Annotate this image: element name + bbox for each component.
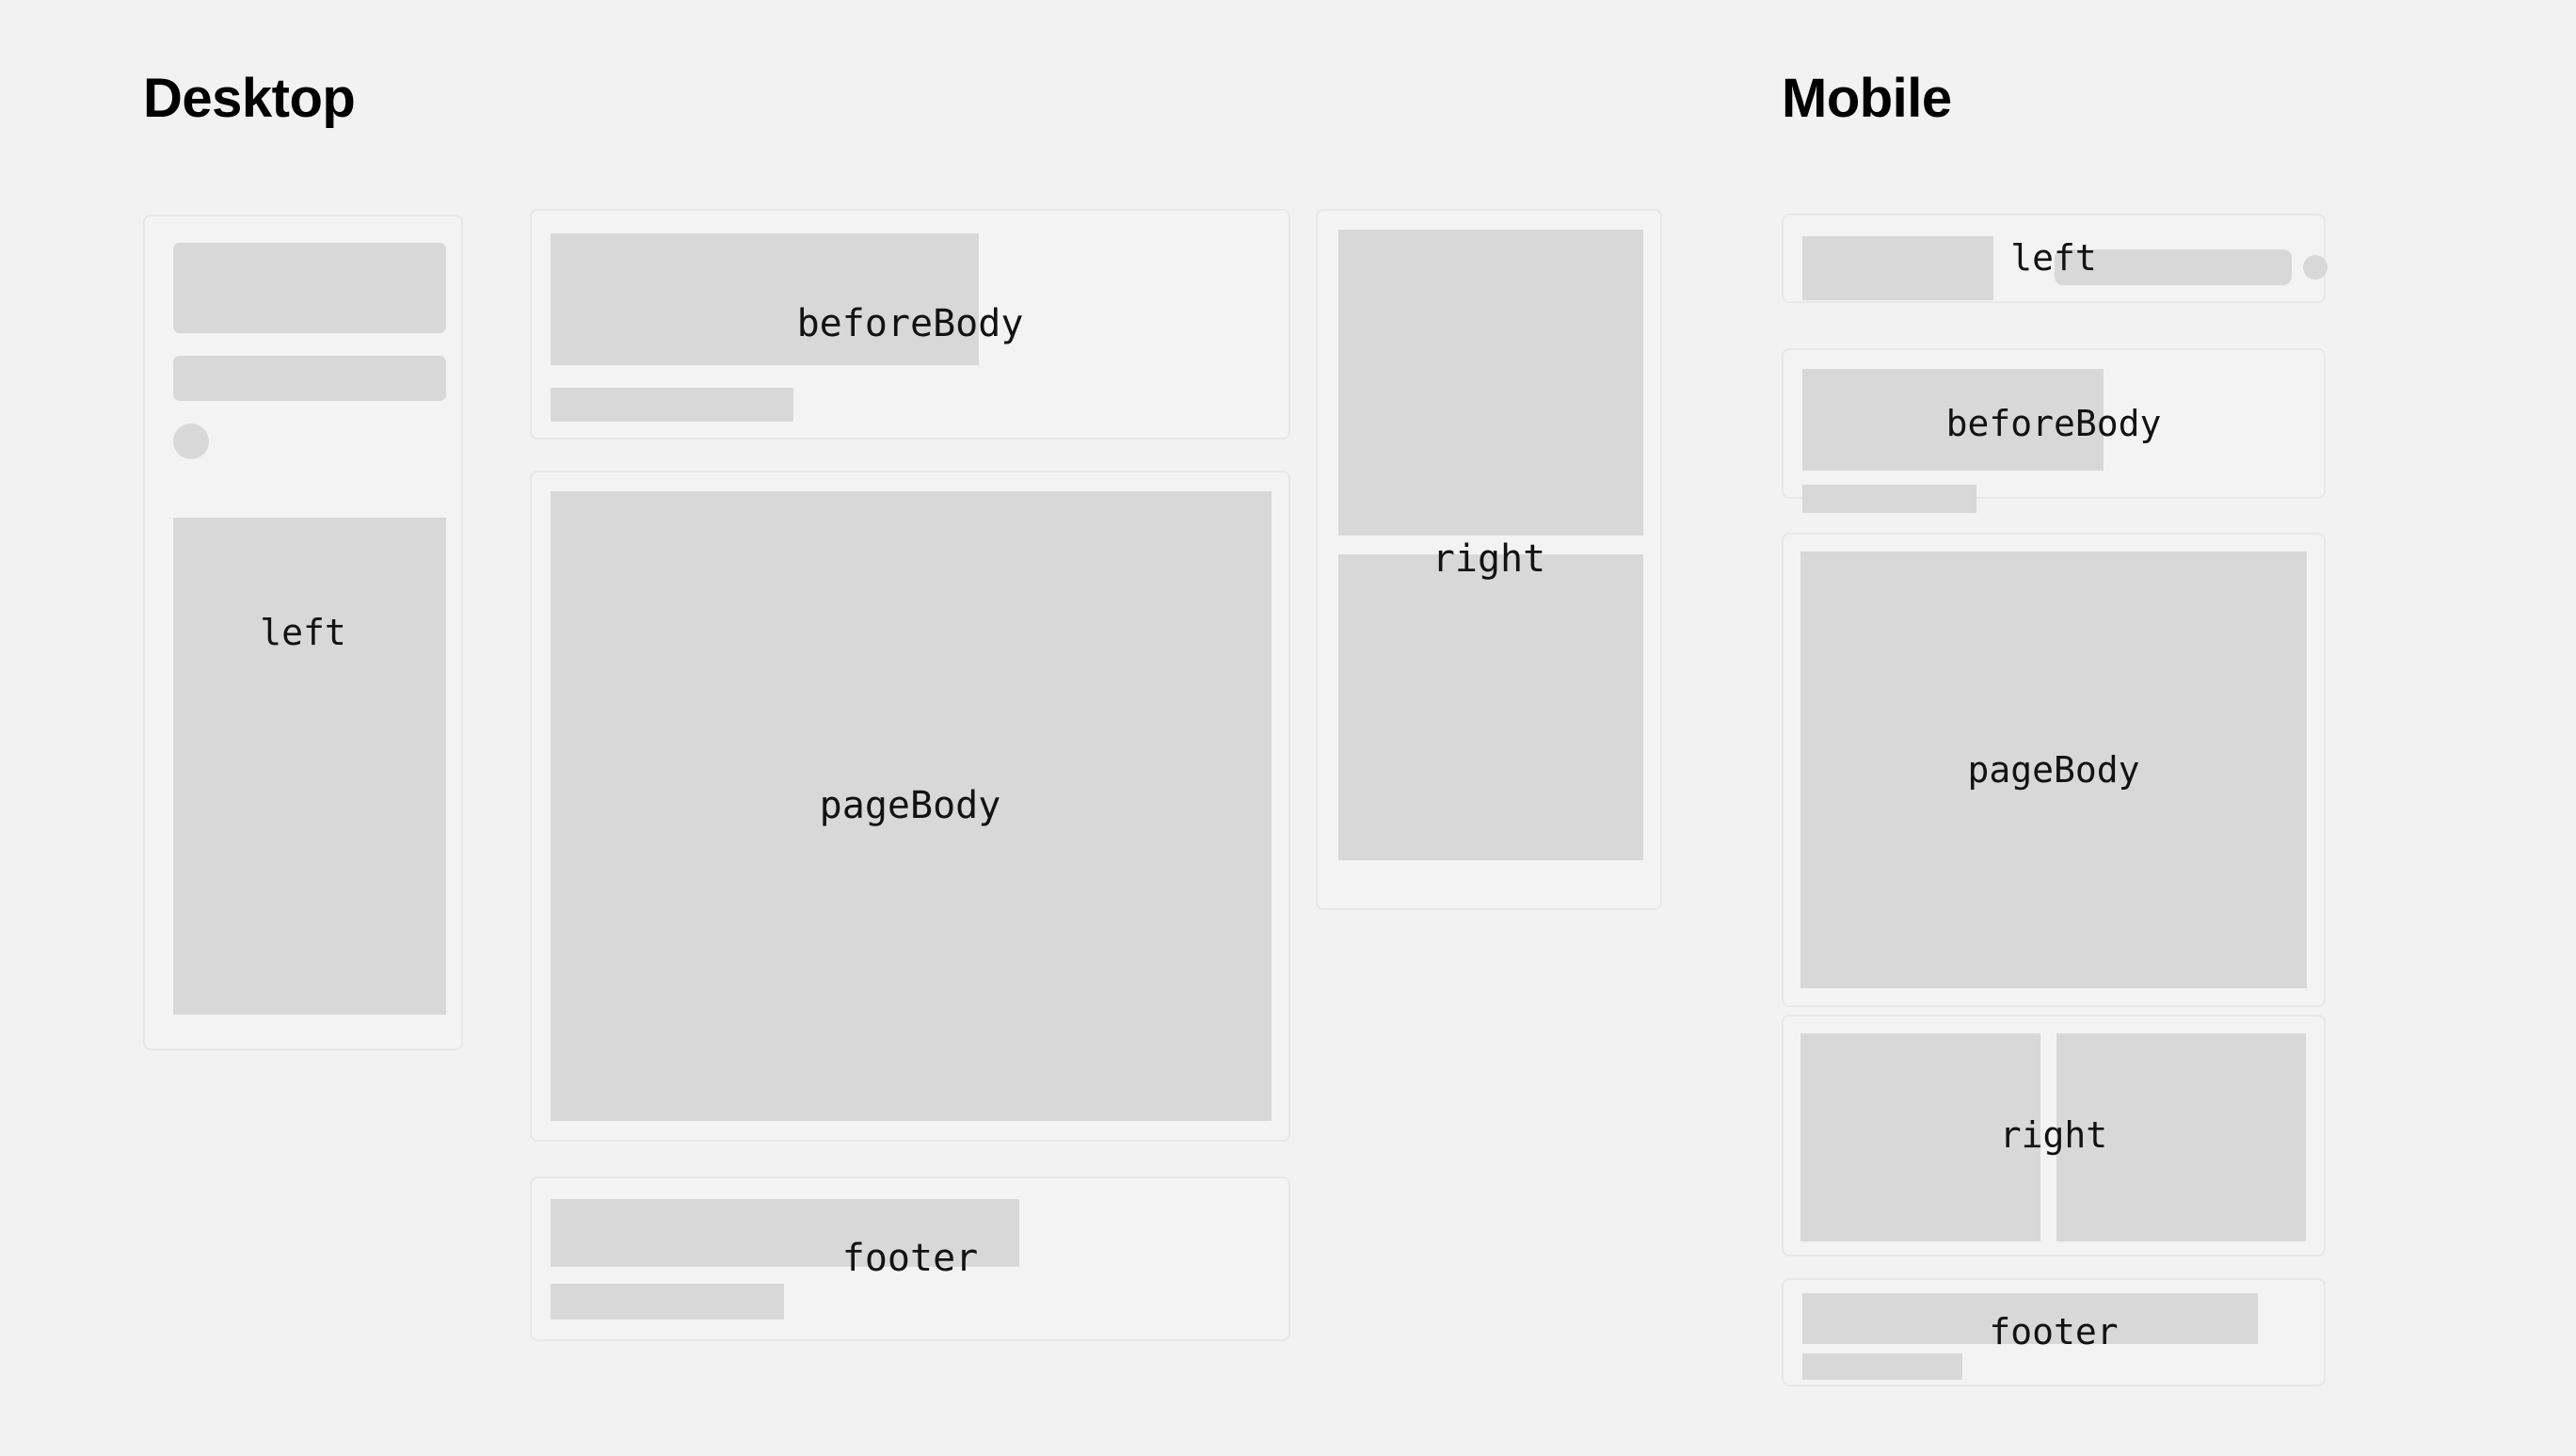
placeholder-bar bbox=[551, 388, 793, 422]
desktop-slot-right-panel[interactable] bbox=[1316, 209, 1662, 910]
placeholder-circle bbox=[2303, 255, 2328, 280]
placeholder-block-large bbox=[1800, 552, 2307, 988]
placeholder-block bbox=[1338, 554, 1643, 860]
mobile-column-heading: Mobile bbox=[1782, 72, 1952, 126]
placeholder-block-tall bbox=[173, 518, 446, 1015]
placeholder-block bbox=[1802, 1293, 2258, 1344]
mobile-slot-right-panel[interactable] bbox=[1782, 1015, 2326, 1256]
placeholder-block bbox=[1800, 1033, 2040, 1241]
mobile-slot-footer-panel[interactable] bbox=[1782, 1278, 2326, 1386]
placeholder-block bbox=[1802, 236, 1993, 300]
desktop-slot-pagebody-panel[interactable] bbox=[530, 471, 1290, 1142]
placeholder-bar bbox=[1802, 1353, 1962, 1380]
placeholder-pill bbox=[2055, 249, 2292, 285]
placeholder-block bbox=[173, 243, 446, 333]
desktop-column-heading: Desktop bbox=[143, 72, 355, 126]
mobile-slot-pagebody-panel[interactable] bbox=[1782, 533, 2326, 1007]
placeholder-bar bbox=[173, 356, 446, 401]
placeholder-bar bbox=[1802, 485, 1976, 513]
placeholder-block bbox=[551, 1199, 1019, 1267]
mobile-slot-beforebody-panel[interactable] bbox=[1782, 348, 2326, 499]
placeholder-block bbox=[1802, 369, 2104, 471]
placeholder-block bbox=[1338, 230, 1643, 536]
placeholder-bar bbox=[551, 1284, 784, 1320]
placeholder-block bbox=[551, 233, 979, 365]
placeholder-circle bbox=[173, 424, 209, 459]
desktop-slot-beforebody-panel[interactable] bbox=[530, 209, 1290, 440]
desktop-slot-left-panel[interactable] bbox=[143, 215, 463, 1050]
desktop-slot-footer-panel[interactable] bbox=[530, 1176, 1290, 1341]
mobile-slot-left-panel[interactable] bbox=[1782, 214, 2326, 303]
placeholder-block bbox=[2056, 1033, 2306, 1241]
placeholder-block-large bbox=[551, 491, 1272, 1121]
